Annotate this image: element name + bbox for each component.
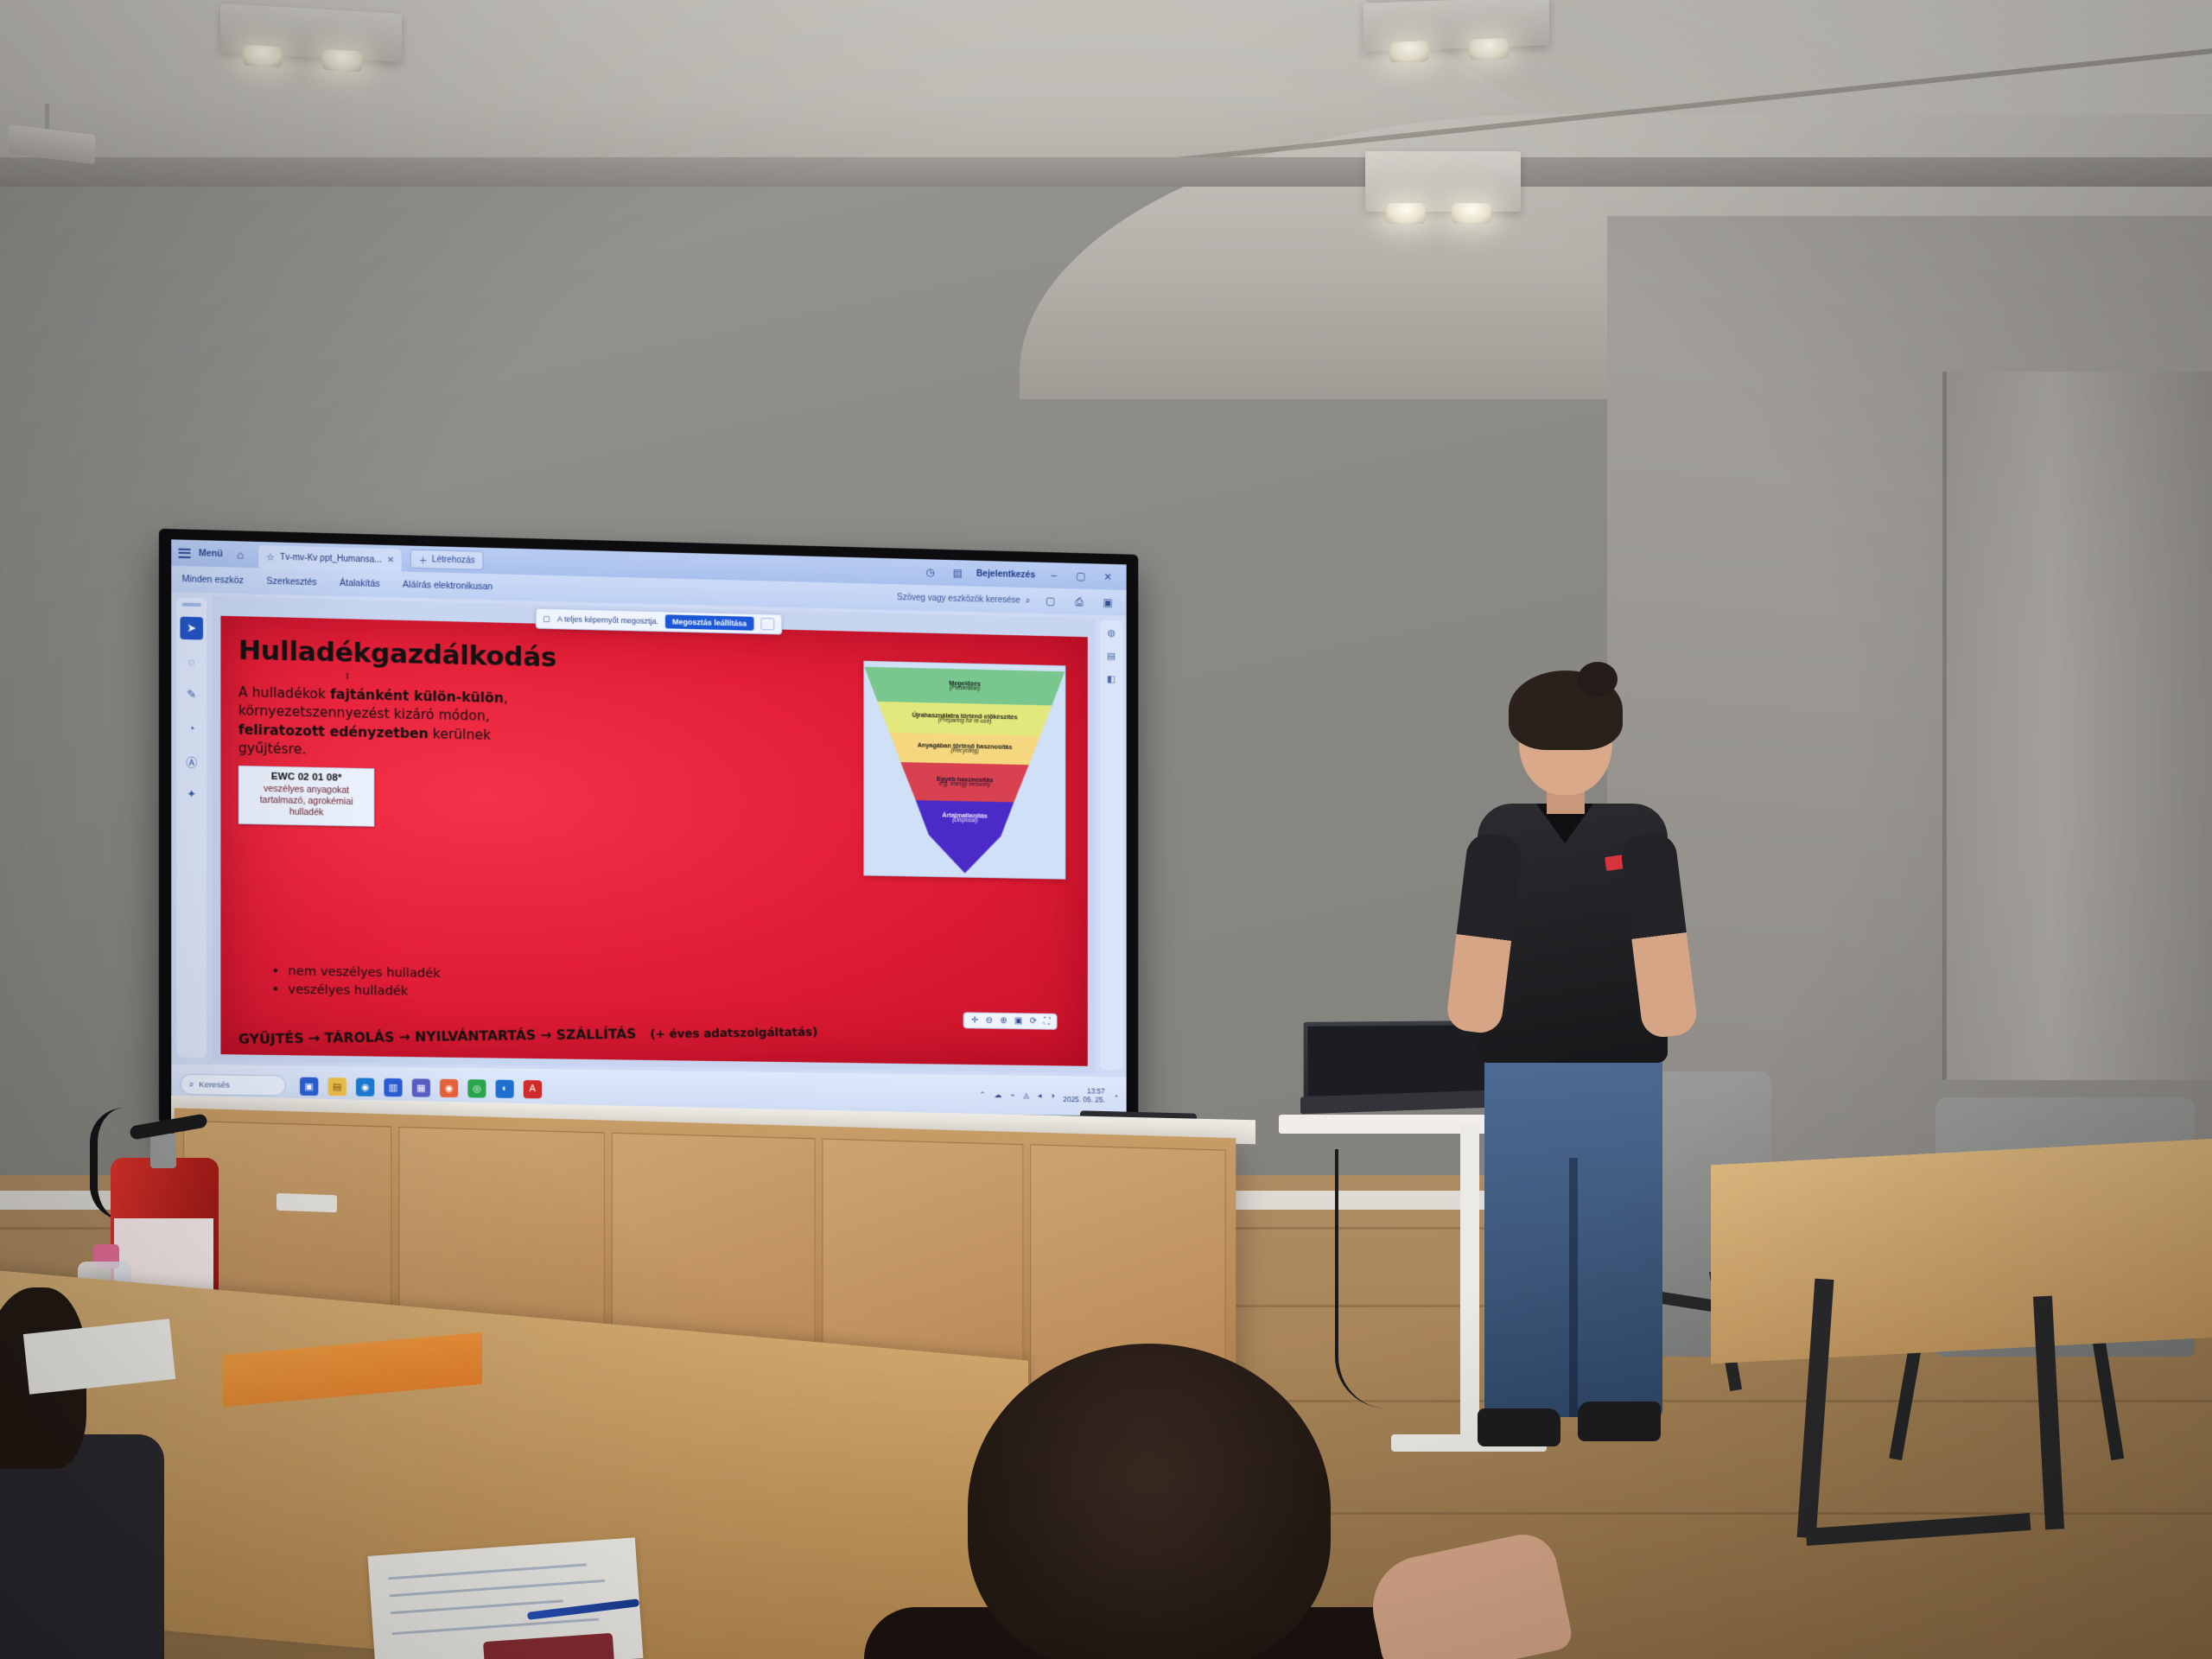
screen-share-message: A teljes képernyőt megosztja. — [557, 614, 658, 626]
ceiling-light-box-3 — [1365, 151, 1521, 212]
audience-center-head — [968, 1344, 1331, 1659]
start-icon[interactable]: ▣ — [300, 1077, 318, 1095]
ceiling-lamp — [1386, 203, 1426, 224]
flow-steps: GYŰJTÉS → TÁROLÁS → NYILVÁNTARTÁS → SZÁL… — [238, 1027, 637, 1047]
edge-browser-icon[interactable]: ◉ — [356, 1077, 374, 1096]
clock-date: 2025. 05. 25. — [1063, 1095, 1105, 1104]
title-marker: I — [346, 671, 356, 681]
store-icon[interactable]: ▤ — [949, 567, 966, 579]
ceiling-lamp — [243, 45, 283, 68]
office-store-icon[interactable]: ▥ — [384, 1077, 402, 1096]
hide-icon[interactable] — [760, 618, 774, 630]
right-conference-table — [1711, 1134, 2212, 1364]
sign-in-button[interactable]: Bejelentkezés — [976, 569, 1035, 581]
left-tool-rail: ➤ ◌ ✎ ◔ Ⓐ ✦ — [176, 597, 207, 1058]
rotate-icon[interactable]: ⟳ — [1030, 1016, 1037, 1026]
fullscreen-icon[interactable]: ⛶ — [1044, 1017, 1050, 1027]
presenter-person — [1426, 674, 1737, 1495]
pyramid-level-label-en: (Recycling) — [950, 749, 978, 756]
wifi-icon[interactable]: ◬ — [1023, 1090, 1029, 1100]
menu-label[interactable]: Menü — [199, 548, 223, 559]
window-maximize-button[interactable]: ▢ — [1072, 570, 1090, 582]
ceiling-lamp — [322, 49, 362, 73]
pyramid-level-label-en: e.g. energy recovery — [939, 782, 990, 789]
waste-process-flow: GYŰJTÉS → TÁROLÁS → NYILVÁNTARTÁS → SZÁL… — [238, 1020, 1076, 1047]
onedrive-icon[interactable]: ☁ — [995, 1090, 1002, 1100]
search-icon[interactable]: ⌕ — [1026, 595, 1030, 605]
print-icon[interactable]: ⎙ — [1071, 595, 1088, 608]
pdf-page-pane[interactable]: ▢ A teljes képernyőt megosztja. Megosztá… — [212, 596, 1096, 1073]
right-panel-rail: ◍ ▤ ◧ — [1100, 620, 1122, 1071]
chevron-up-icon[interactable]: ⌃ — [979, 1090, 985, 1099]
pan-icon[interactable]: ✛ — [971, 1015, 978, 1025]
menu-item-all-tools[interactable]: Minden eszköz — [181, 574, 243, 586]
usb-icon[interactable]: ⌁ — [1010, 1090, 1014, 1100]
ceiling-light-box-1 — [220, 3, 402, 62]
pyramid-level-prevention: Megelőzés (Prevention) — [864, 667, 1065, 706]
teams-icon[interactable]: ▦ — [412, 1078, 430, 1096]
ceiling-lamp — [1452, 203, 1491, 224]
document-work-area: ➤ ◌ ✎ ◔ Ⓐ ✦ ◍ ▤ ◧ — [171, 592, 1126, 1077]
attachments-panel-icon[interactable]: ◧ — [1107, 673, 1116, 684]
ewc-description: veszélyes anyagokat tartalmazó, agrokémi… — [243, 783, 370, 821]
acrobat-reader-icon[interactable]: A — [524, 1080, 542, 1098]
select-tool-icon[interactable]: ➤ — [180, 617, 203, 640]
list-item: veszélyes hulladék — [272, 982, 441, 999]
pyramid-level-other-recovery: Egyéb hasznosítás e.g. energy recovery — [864, 761, 1065, 803]
list-item: nem veszélyes hulladék — [272, 964, 441, 981]
ewc-code: EWC 02 01 08* — [243, 771, 370, 784]
taskbar-search-input[interactable]: ⌕ Keresés — [180, 1074, 285, 1096]
pyramid-level-label-en: (Disposal) — [952, 818, 977, 824]
conference-room-scene: Menü ⌂ ☆ Tv-mv-Kv ppt_Humansa... ✕ ＋ Lét… — [0, 0, 2212, 1659]
window-minimize-button[interactable]: – — [1046, 569, 1063, 582]
zoom-in-icon[interactable]: ⊕ — [1000, 1016, 1007, 1026]
chrome-icon[interactable]: ◎ — [467, 1079, 486, 1097]
taskbar-clock[interactable]: 13:57 2025. 05. 25. — [1063, 1087, 1105, 1104]
pyramid-level-reuse: Újrahasználatra történő előkészítés (Pre… — [864, 702, 1065, 737]
close-icon[interactable]: ✕ — [387, 555, 394, 564]
plus-icon: ＋ — [419, 552, 428, 565]
highlight-pen-tool-icon[interactable]: ✎ — [180, 683, 203, 707]
tool-rail-handle[interactable] — [181, 602, 200, 607]
right-column — [1944, 372, 2212, 1080]
search-placeholder: Szöveg vagy eszközök keresése — [897, 593, 1020, 606]
clock-icon[interactable]: ◷ — [922, 566, 939, 578]
body-seg-2: fajtánként külön-külön — [330, 686, 504, 706]
pyramid-level-label-en: (Prevention) — [950, 686, 980, 693]
pyramid-level-label-en: (Preparing for re-use) — [938, 719, 992, 726]
home-icon[interactable]: ⌂ — [231, 545, 250, 563]
presentation-slide: Hulladékgazdálkodás I A hulladékok fajtá… — [220, 616, 1087, 1066]
text-box-tool-icon[interactable]: Ⓐ — [180, 749, 203, 772]
extinguisher-neck — [150, 1134, 176, 1168]
create-new-button[interactable]: ＋ Létrehozás — [410, 550, 484, 570]
body-seg-4: feliratozott edényzetben — [238, 721, 429, 741]
firefox-icon[interactable]: ◉ — [440, 1078, 458, 1096]
stop-sharing-button[interactable]: Megosztás leállítása — [665, 614, 753, 630]
file-explorer-icon[interactable]: ▤ — [328, 1077, 346, 1096]
menu-icon[interactable] — [178, 548, 190, 558]
save-icon[interactable]: ▣ — [1099, 596, 1116, 608]
page-icon[interactable]: ▢ — [1042, 594, 1059, 607]
slide-bullet-list: nem veszélyes hulladék veszélyes hulladé… — [272, 964, 441, 1003]
ceiling-lamp — [1469, 38, 1509, 60]
search-icon: ⌕ — [189, 1079, 194, 1089]
flow-note: (+ éves adatszolgáltatás) — [650, 1026, 817, 1042]
ceiling-lamp — [1389, 41, 1429, 63]
erase-tool-icon[interactable]: ◔ — [180, 716, 203, 740]
ceiling-light-box-2 — [1363, 0, 1549, 52]
pyramid-level-disposal: Ártalmatlanítás (Disposal) — [864, 799, 1065, 837]
volume-icon[interactable]: ◂ — [1038, 1090, 1041, 1100]
right-column-edge — [1942, 372, 1947, 1080]
battery-icon[interactable]: ◑ — [1050, 1091, 1054, 1100]
zoom-out-icon[interactable]: ⊖ — [986, 1016, 993, 1026]
pdf-viewer-controls: ✛ ⊖ ⊕ ▣ ⟳ ⛶ — [963, 1012, 1057, 1029]
pyramid-level-recycling: Anyagában történő hasznosítás (Recycling… — [864, 732, 1065, 766]
taskbar-search-placeholder: Keresés — [199, 1080, 230, 1090]
search-input[interactable]: Szöveg vagy eszközök keresése ⌕ — [897, 593, 1030, 606]
clock-time: 13:57 — [1087, 1087, 1105, 1096]
window-close-button[interactable]: ✕ — [1099, 570, 1116, 582]
taskbar-icon-group: ▣ ▤ ◉ ▥ ▦ ◉ ◎ ◐ A — [300, 1077, 542, 1098]
pyramid-tip — [864, 834, 1065, 875]
fit-page-icon[interactable]: ▣ — [1014, 1016, 1022, 1026]
stamp-tool-icon[interactable]: ✦ — [180, 783, 203, 806]
tv-bezel: Menü ⌂ ☆ Tv-mv-Kv ppt_Humansa... ✕ ＋ Lét… — [159, 529, 1138, 1135]
acrobat-application-window: Menü ⌂ ☆ Tv-mv-Kv ppt_Humansa... ✕ ＋ Lét… — [171, 539, 1126, 1116]
menu-item-edit[interactable]: Szerkesztés — [266, 576, 316, 588]
screen-share-icon: ▢ — [543, 613, 550, 623]
system-tray: ⌃ ☁ ⌁ ◬ ◂ ◑ 13:57 2025. 05. 25. ◔ — [979, 1086, 1117, 1104]
document-tab-label: Tv-mv-Kv ppt_Humansa... — [280, 552, 382, 564]
notes-panel-icon[interactable]: ▤ — [1107, 651, 1116, 662]
power-cable — [1335, 1149, 1404, 1408]
waste-hierarchy-pyramid: Megelőzés (Prevention) Újrahasználatra t… — [863, 661, 1065, 880]
outlook-icon[interactable]: ◐ — [496, 1079, 514, 1097]
comment-panel-icon[interactable]: ◍ — [1107, 627, 1115, 639]
tv-screen: Menü ⌂ ☆ Tv-mv-Kv ppt_Humansa... ✕ ＋ Lét… — [171, 539, 1126, 1116]
menu-item-convert[interactable]: Átalakítás — [340, 578, 380, 589]
create-new-label: Létrehozás — [432, 555, 475, 565]
presenter-left-shoe — [1478, 1408, 1560, 1446]
ceiling-edge-band — [0, 157, 2212, 187]
star-icon[interactable]: ☆ — [266, 551, 275, 563]
menu-item-esign[interactable]: Aláírás elektronikusan — [403, 580, 493, 593]
presenter-hair-bun — [1578, 662, 1618, 696]
body-seg-1: A hulladékok — [238, 684, 330, 702]
ewc-code-box: EWC 02 01 08* veszélyes anyagokat tartal… — [238, 765, 374, 826]
tv-remote-control[interactable] — [276, 1193, 337, 1212]
comment-tool-icon[interactable]: ◌ — [180, 650, 203, 673]
bell-icon[interactable]: ◔ — [1114, 1092, 1118, 1101]
presenter-leg-separation — [1569, 1158, 1578, 1417]
slide-body-text: A hulladékok fajtánként külön-külön, kör… — [238, 683, 527, 764]
presenter-right-shoe — [1578, 1402, 1661, 1441]
